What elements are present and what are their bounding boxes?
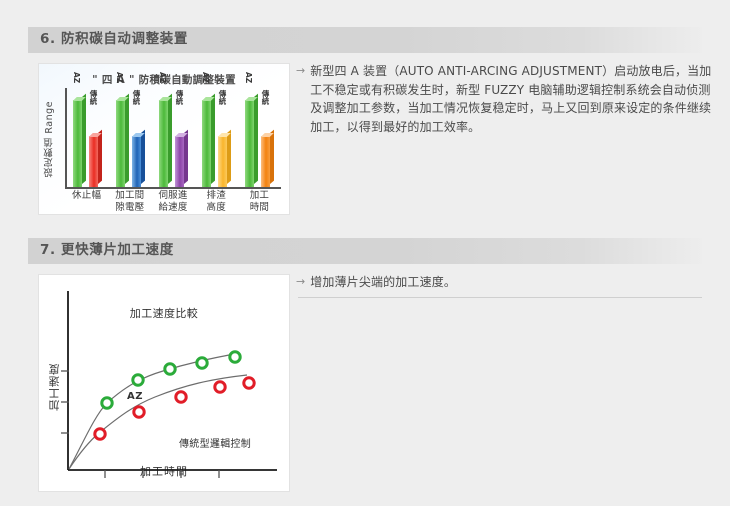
bar-series-label-traditional: 傳統	[131, 90, 142, 105]
bar-chart-x-axis-line	[65, 187, 281, 189]
bar-az	[116, 100, 125, 187]
data-point-traditional	[95, 429, 105, 439]
page-root: 6. 防积碳自动调整装置 " 四 A " 防積碳自動調整裝置 設定數值 Rang…	[0, 0, 730, 506]
data-point-traditional	[176, 392, 186, 402]
section-6-body-text: 新型四 A 装置（AUTO ANTI-ARCING ADJUSTMENT）启动放…	[310, 62, 716, 136]
bar-series-label-az: AZ	[158, 72, 167, 83]
bar-chart: " 四 A " 防積碳自動調整裝置 設定數值 Range	[39, 64, 289, 214]
bar-chart-category-labels: 休止幅 加工間 隙電壓 伺服進 給速度 排渣 高度 加工 時間	[65, 190, 281, 214]
bar-chart-plot-area: AZ 傳統 AZ 傳統	[67, 88, 281, 187]
bar-category-label: 伺服進 給速度	[151, 190, 194, 214]
bar-series-label-az: AZ	[244, 72, 253, 83]
data-point-traditional	[134, 407, 144, 417]
bar-chart-y-axis-label: 設定數值 Range	[43, 84, 57, 194]
bar-series-label-traditional: 傳統	[217, 90, 228, 105]
section-7-body-text: 增加薄片尖端的加工速度。	[310, 273, 456, 292]
data-point-az	[133, 375, 143, 385]
bar-group: AZ 傳統	[241, 88, 283, 187]
data-point-az	[165, 364, 175, 374]
data-point-traditional	[215, 382, 225, 392]
data-point-az	[230, 352, 240, 362]
bar-az	[202, 100, 211, 187]
line-chart-svg	[39, 275, 290, 492]
bar-category-label: 加工間 隙電壓	[108, 190, 151, 214]
bar-az	[159, 100, 168, 187]
bar-series-label-az: AZ	[201, 72, 210, 83]
bar-group: AZ 傳統	[155, 88, 197, 187]
arrow-icon: →	[296, 273, 310, 291]
bar-series-label-az: AZ	[72, 72, 81, 83]
bar-az	[245, 100, 254, 187]
bar-series-label-traditional: 傳統	[174, 90, 185, 105]
bar-traditional	[89, 136, 98, 187]
figure-panel-line-chart: 加工速度比較 加工速度 加工時間 AZ 傳統型邏輯控制	[38, 274, 290, 492]
bar-traditional	[261, 136, 270, 187]
line-series-az	[69, 355, 229, 469]
bar-traditional	[218, 136, 227, 187]
bar-traditional	[175, 136, 184, 187]
bar-category-label: 加工 時間	[238, 190, 281, 214]
section-header-7: 7. 更快薄片加工速度	[28, 238, 702, 264]
bar-series-label-traditional: 傳統	[88, 90, 99, 105]
data-point-az	[197, 358, 207, 368]
bar-group: AZ 傳統	[198, 88, 240, 187]
bar-az	[73, 100, 82, 187]
bar-series-label-traditional: 傳統	[260, 90, 271, 105]
data-point-az	[102, 398, 112, 408]
data-point-traditional	[244, 378, 254, 388]
bar-category-label: 休止幅	[65, 190, 108, 214]
bar-category-label: 排渣 高度	[195, 190, 238, 214]
bar-group: AZ 傳統	[112, 88, 154, 187]
section-7-divider	[298, 297, 702, 298]
bar-traditional	[132, 136, 141, 187]
section-header-6: 6. 防积碳自动调整装置	[28, 27, 702, 53]
section-6-text-column: → 新型四 A 装置（AUTO ANTI-ARCING ADJUSTMENT）启…	[296, 62, 716, 136]
section-7-text-column: → 增加薄片尖端的加工速度。	[296, 273, 716, 292]
bar-group: AZ 傳統	[69, 88, 111, 187]
arrow-icon: →	[296, 62, 310, 80]
section-7-text-row: → 增加薄片尖端的加工速度。	[296, 273, 716, 292]
section-title-7: 7. 更快薄片加工速度	[40, 244, 174, 258]
section-6-text-row: → 新型四 A 装置（AUTO ANTI-ARCING ADJUSTMENT）启…	[296, 62, 716, 136]
line-chart: 加工速度比較 加工速度 加工時間 AZ 傳統型邏輯控制	[39, 275, 289, 491]
figure-panel-bar-chart: " 四 A " 防積碳自動調整裝置 設定數值 Range	[38, 63, 290, 215]
section-title-6: 6. 防积碳自动调整装置	[40, 33, 188, 47]
bar-series-label-az: AZ	[115, 72, 124, 83]
